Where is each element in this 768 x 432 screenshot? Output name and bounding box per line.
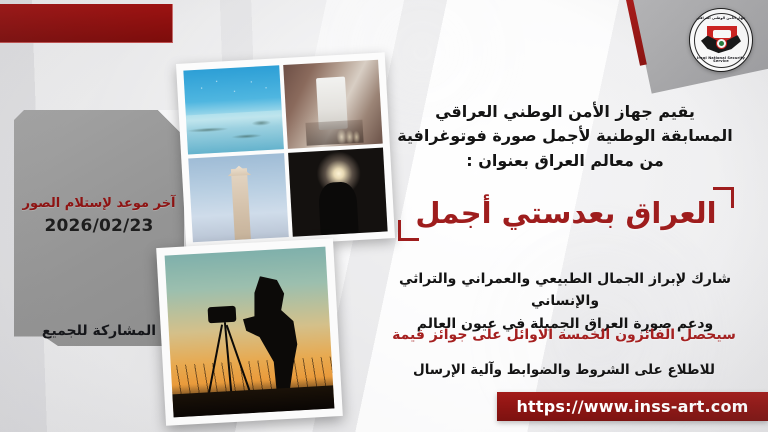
collage-photo-man-reading	[283, 60, 383, 149]
contest-title: العراق بعدستي أجمل	[415, 198, 716, 230]
logo-arabic-text: جهاز الأمن الوطني العراقي	[690, 17, 752, 21]
title-corner-top-right-icon	[713, 187, 734, 208]
contest-poster: جهاز الأمن الوطني العراقي Iraqi National…	[0, 0, 768, 432]
feature-photo-image	[165, 247, 335, 418]
info-note: للاطلاع على الشروط والضوابط وآلية الإرسا…	[378, 362, 750, 378]
deadline-date: 2026/02/23	[14, 216, 184, 236]
website-url-bar[interactable]: https://www.inss-art.com	[497, 392, 768, 421]
logo-pupil-shape	[716, 38, 727, 49]
intro-text: يقيم جهاز الأمن الوطني العراقي المسابقة …	[380, 100, 750, 173]
feature-photo-camera	[207, 306, 236, 324]
feature-photo-tripod	[193, 293, 263, 397]
intro-line-1: يقيم جهاز الأمن الوطني العراقي	[380, 100, 750, 124]
logo-eye-shield-icon	[701, 26, 741, 54]
participation-note: المشاركة للجميع	[14, 323, 184, 339]
intro-line-2: المسابقة الوطنية لأجمل صورة فوتوغرافية	[380, 124, 750, 148]
collage-photo-marshlands	[183, 65, 283, 154]
logo-english-text: Iraqi National Security Service	[690, 57, 752, 64]
inss-logo: جهاز الأمن الوطني العراقي Iraqi National…	[689, 8, 753, 72]
deadline-block: آخر موعد لإستلام الصور 2026/02/23	[14, 196, 184, 236]
collage-photo-clock-tower	[188, 153, 288, 242]
collage-grid	[183, 60, 387, 243]
intro-line-3: من معالم العراق بعنوان :	[380, 149, 750, 173]
body-line-1: شارك لإبراز الجمال الطبيعي والعمراني وال…	[376, 268, 754, 313]
body-text: شارك لإبراز الجمال الطبيعي والعمراني وال…	[376, 268, 754, 335]
prize-note: سيحصل الفائزون الخمسة الاوائل على جوائز …	[378, 327, 750, 343]
contest-title-wrap: العراق بعدستي أجمل	[386, 198, 746, 230]
photo-collage	[176, 52, 395, 249]
top-red-accent-bar	[0, 4, 173, 43]
website-url[interactable]: https://www.inss-art.com	[516, 397, 748, 416]
collage-photo-silhouette	[288, 148, 388, 237]
feature-photo-photographer	[156, 238, 343, 426]
deadline-label: آخر موعد لإستلام الصور	[14, 196, 184, 212]
title-corner-bottom-left-icon	[398, 220, 419, 241]
